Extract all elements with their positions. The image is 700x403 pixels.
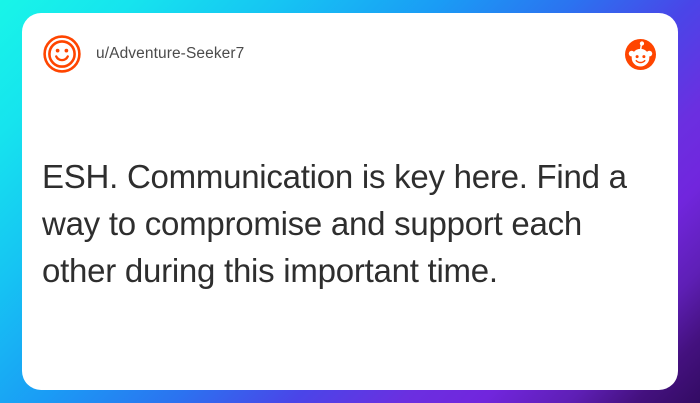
reddit-snoo-logo-icon (625, 39, 656, 70)
smiley-face-avatar-icon[interactable] (42, 34, 82, 74)
reddit-post-card: u/Adventure-Seeker7 ESH. Communication i… (22, 13, 678, 390)
post-body-text: ESH. Communication is key here. Find a w… (42, 153, 658, 294)
post-header: u/Adventure-Seeker7 (22, 13, 678, 95)
gradient-background: u/Adventure-Seeker7 ESH. Communication i… (0, 0, 700, 403)
post-author-username[interactable]: u/Adventure-Seeker7 (96, 45, 244, 63)
